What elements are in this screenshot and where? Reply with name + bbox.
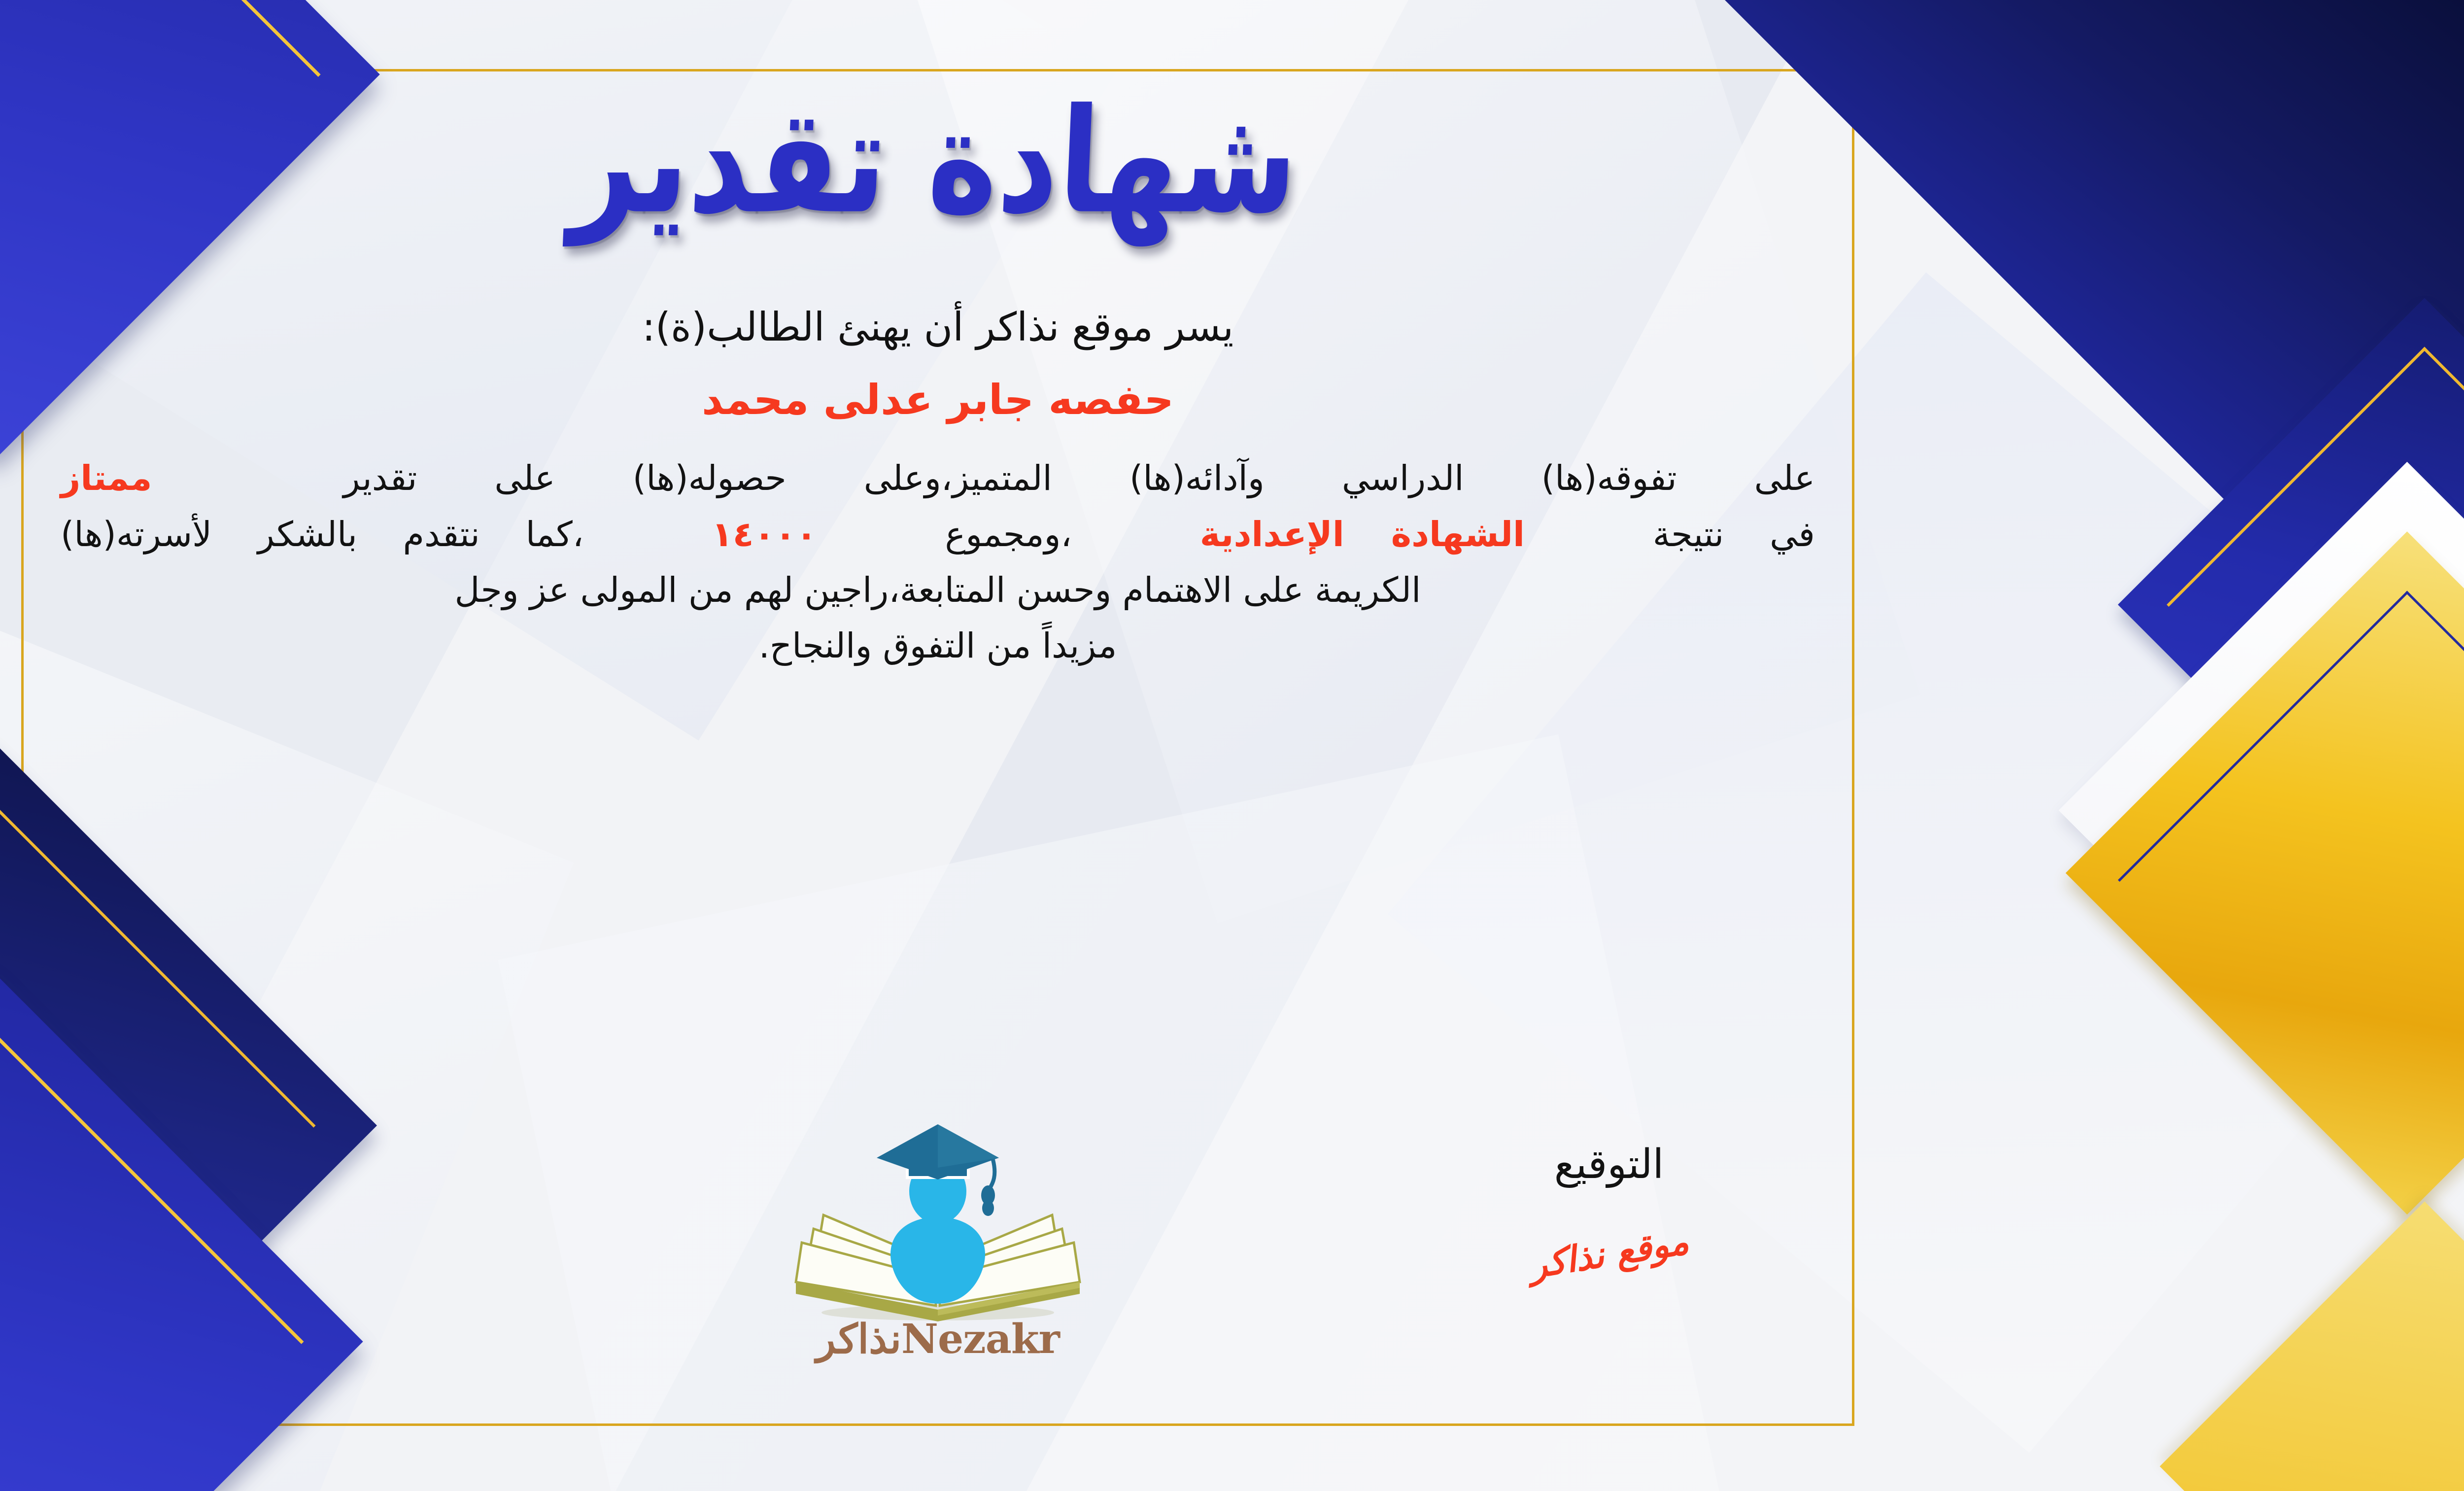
chevron-shape-blue	[2118, 298, 2464, 912]
chevron-shape-gold	[2066, 531, 2464, 1214]
brand-logo: Nezakrنذاكر	[780, 1118, 1095, 1409]
certificate-content: شهادة تقدير يسر موقع نذاكر أن يهنئ الطال…	[21, 69, 1854, 1426]
body-line-2: في نتيجة الشهادة الإعدادية ،ومجموع ١٤٠٠٠…	[61, 507, 1815, 562]
brand-logo-text: Nezakrنذاكر	[780, 1316, 1095, 1363]
certificate-body: على تفوقه(ها) الدراسي وآدائه(ها) المتميز…	[61, 451, 1815, 674]
signature-block: التوقيع موقع نذاكر	[1422, 1141, 1796, 1274]
certificate-title: شهادة تقدير	[568, 84, 1300, 240]
total-score: ١٤٠٠٠	[712, 514, 817, 555]
certificate-footer: التوقيع موقع نذاكر	[21, 1104, 1854, 1419]
brand-name-arabic: نذاكر	[816, 1316, 901, 1363]
body-line-3: الكريمة على الاهتمام وحسن المتابعة،راجين…	[61, 562, 1815, 618]
certificate-canvas: شهادة تقدير يسر موقع نذاكر أن يهنئ الطال…	[0, 0, 2464, 1491]
chevron-blue-inline	[2118, 591, 2464, 1170]
body-line-2-suffix: ،كما نتقدم بالشكر لأسرته(ها)	[61, 514, 583, 555]
body-line-2-mid: ،ومجموع	[945, 514, 1072, 555]
chevron-gold-inline	[2167, 347, 2464, 863]
body-line-1-text: على تفوقه(ها) الدراسي وآدائه(ها) المتميز…	[343, 458, 1815, 498]
corner-ornament-bottom-right	[2160, 1202, 2464, 1491]
body-line-2-prefix: في نتيجة	[1653, 514, 1815, 555]
grade-value: ممتاز	[61, 458, 152, 498]
signature-label: التوقيع	[1422, 1141, 1796, 1188]
student-name: حفصه جابر عدلى محمد	[702, 376, 1174, 424]
corner-gold-accent-right	[2135, 607, 2464, 970]
exam-name: الشهادة الإعدادية	[1200, 514, 1525, 555]
body-line-4: مزيداً من التفوق والنجاح.	[61, 618, 1815, 674]
graduate-book-logo-icon	[780, 1118, 1095, 1330]
side-ornament-right	[1878, 256, 2464, 1267]
greeting-text: يسر موقع نذاكر أن يهنئ الطالب(ة):	[642, 304, 1233, 350]
body-line-1: على تفوقه(ها) الدراسي وآدائه(ها) المتميز…	[61, 451, 1815, 506]
signature-handwritten: موقع نذاكر	[1527, 1220, 1692, 1286]
chevron-shape-white	[2058, 462, 2464, 1159]
brand-name-latin: Nezakr	[901, 1316, 1060, 1363]
